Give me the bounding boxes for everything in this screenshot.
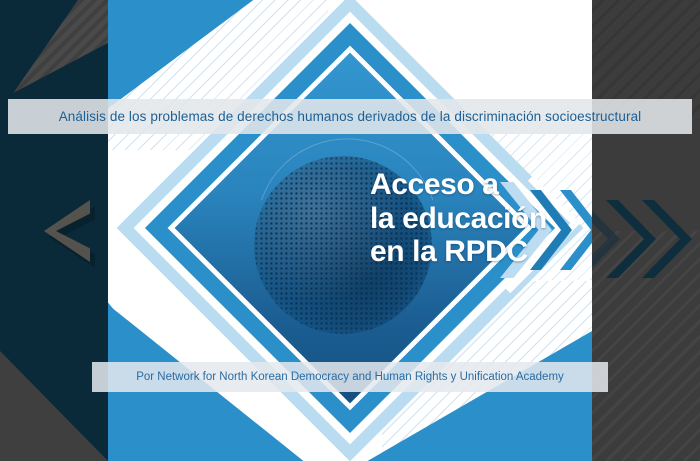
poster-canvas: Acceso a la educación en la RPDC Análisi… — [0, 0, 700, 461]
credit-text: Por Network for North Korean Democracy a… — [92, 371, 608, 383]
headline-line-3: en la RPDC — [370, 235, 592, 269]
headline-line-1: Acceso a — [370, 168, 592, 202]
banner-title-text: Análisis de los problemas de derechos hu… — [8, 109, 692, 124]
headline-line-2: la educación — [370, 202, 592, 236]
right-decorative-panel — [592, 0, 700, 461]
credit-bar: Por Network for North Korean Democracy a… — [92, 362, 608, 392]
diagonal-hatch-bottomright — [592, 231, 700, 461]
poster-headline: Acceso a la educación en la RPDC — [370, 168, 592, 269]
banner-title-bar: Análisis de los problemas de derechos hu… — [8, 99, 692, 134]
